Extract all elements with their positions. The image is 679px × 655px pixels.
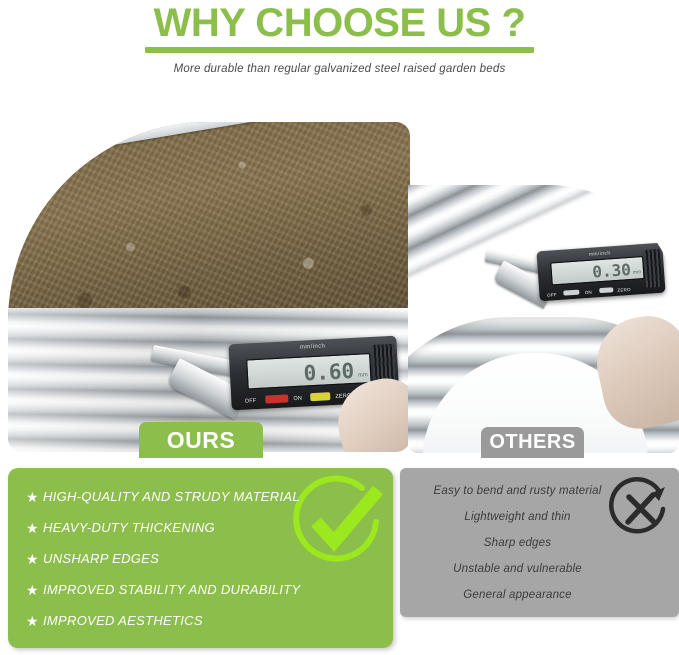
caliper-grip-others — [644, 249, 663, 288]
list-item-label: UNSHARP EDGES — [43, 551, 159, 566]
others-panel: Easy to bend and rusty material Lightwei… — [400, 468, 679, 617]
digital-caliper-others: mm/inch 0.30 mm OFF ON ZERO — [536, 243, 665, 302]
caliper-reading-ours: 0.60 — [303, 361, 355, 385]
caliper-reading-others: 0.30 — [592, 262, 632, 281]
list-item: Sharp edges — [410, 530, 625, 556]
caliper-zero-button-others — [600, 287, 614, 293]
caliper-on-label-others: ON — [585, 289, 592, 294]
caliper-off-button-others — [563, 289, 580, 296]
star-icon: ★ — [26, 521, 43, 535]
why-choose-us-infographic: WHY CHOOSE US ? More durable than regula… — [0, 0, 679, 655]
others-product-photo: mm/inch 0.30 mm OFF ON ZERO — [408, 185, 679, 453]
caliper-unit-ours: mm — [358, 372, 368, 379]
list-item-label: HIGH-QUALITY AND STRUDY MATERIAL — [43, 489, 300, 504]
star-icon: ★ — [26, 583, 43, 597]
list-item-label: IMPROVED AESTHETICS — [43, 613, 203, 628]
x-circle-icon — [609, 477, 671, 539]
header: WHY CHOOSE US ? More durable than regula… — [0, 0, 679, 100]
others-badge-label: OTHERS — [489, 431, 575, 454]
page-title: WHY CHOOSE US ? — [0, 1, 679, 45]
caliper-zero-button-ours — [310, 392, 331, 401]
others-feature-list: Easy to bend and rusty material Lightwei… — [410, 478, 625, 608]
list-item: Lightweight and thin — [410, 504, 625, 530]
caliper-off-label-others: OFF — [547, 292, 557, 298]
list-item: Unstable and vulnerable — [410, 556, 625, 582]
ours-badge-label: OURS — [167, 427, 235, 454]
title-divider — [145, 47, 534, 53]
ours-product-photo: mm/inch 0.60 mm OFF ON ZERO — [8, 122, 410, 452]
list-item-label: HEAVY-DUTY THICKENING — [43, 520, 215, 535]
list-item: ★ HEAVY-DUTY THICKENING — [26, 512, 386, 543]
page-subtitle: More durable than regular galvanized ste… — [0, 61, 679, 77]
list-item: Easy to bend and rusty material — [410, 478, 625, 504]
list-item: General appearance — [410, 582, 625, 608]
others-badge: OTHERS — [481, 427, 584, 458]
caliper-on-label-ours: ON — [293, 396, 302, 402]
ours-panel: ★ HIGH-QUALITY AND STRUDY MATERIAL ★ HEA… — [8, 468, 393, 648]
ours-badge: OURS — [139, 422, 263, 458]
list-item: ★ IMPROVED STABILITY AND DURABILITY — [26, 574, 386, 605]
caliper-zero-label-others: ZERO — [617, 286, 631, 292]
caliper-unit-others: mm — [633, 269, 642, 276]
list-item: ★ UNSHARP EDGES — [26, 543, 386, 574]
list-item-label: IMPROVED STABILITY AND DURABILITY — [43, 582, 300, 597]
star-icon: ★ — [26, 614, 43, 628]
list-item: ★ IMPROVED AESTHETICS — [26, 605, 386, 636]
ours-feature-list: ★ HIGH-QUALITY AND STRUDY MATERIAL ★ HEA… — [26, 481, 386, 636]
list-item: ★ HIGH-QUALITY AND STRUDY MATERIAL — [26, 481, 386, 512]
star-icon: ★ — [26, 490, 43, 504]
star-icon: ★ — [26, 552, 43, 566]
caliper-off-button-ours — [265, 394, 289, 403]
caliper-off-label-ours: OFF — [245, 398, 257, 405]
